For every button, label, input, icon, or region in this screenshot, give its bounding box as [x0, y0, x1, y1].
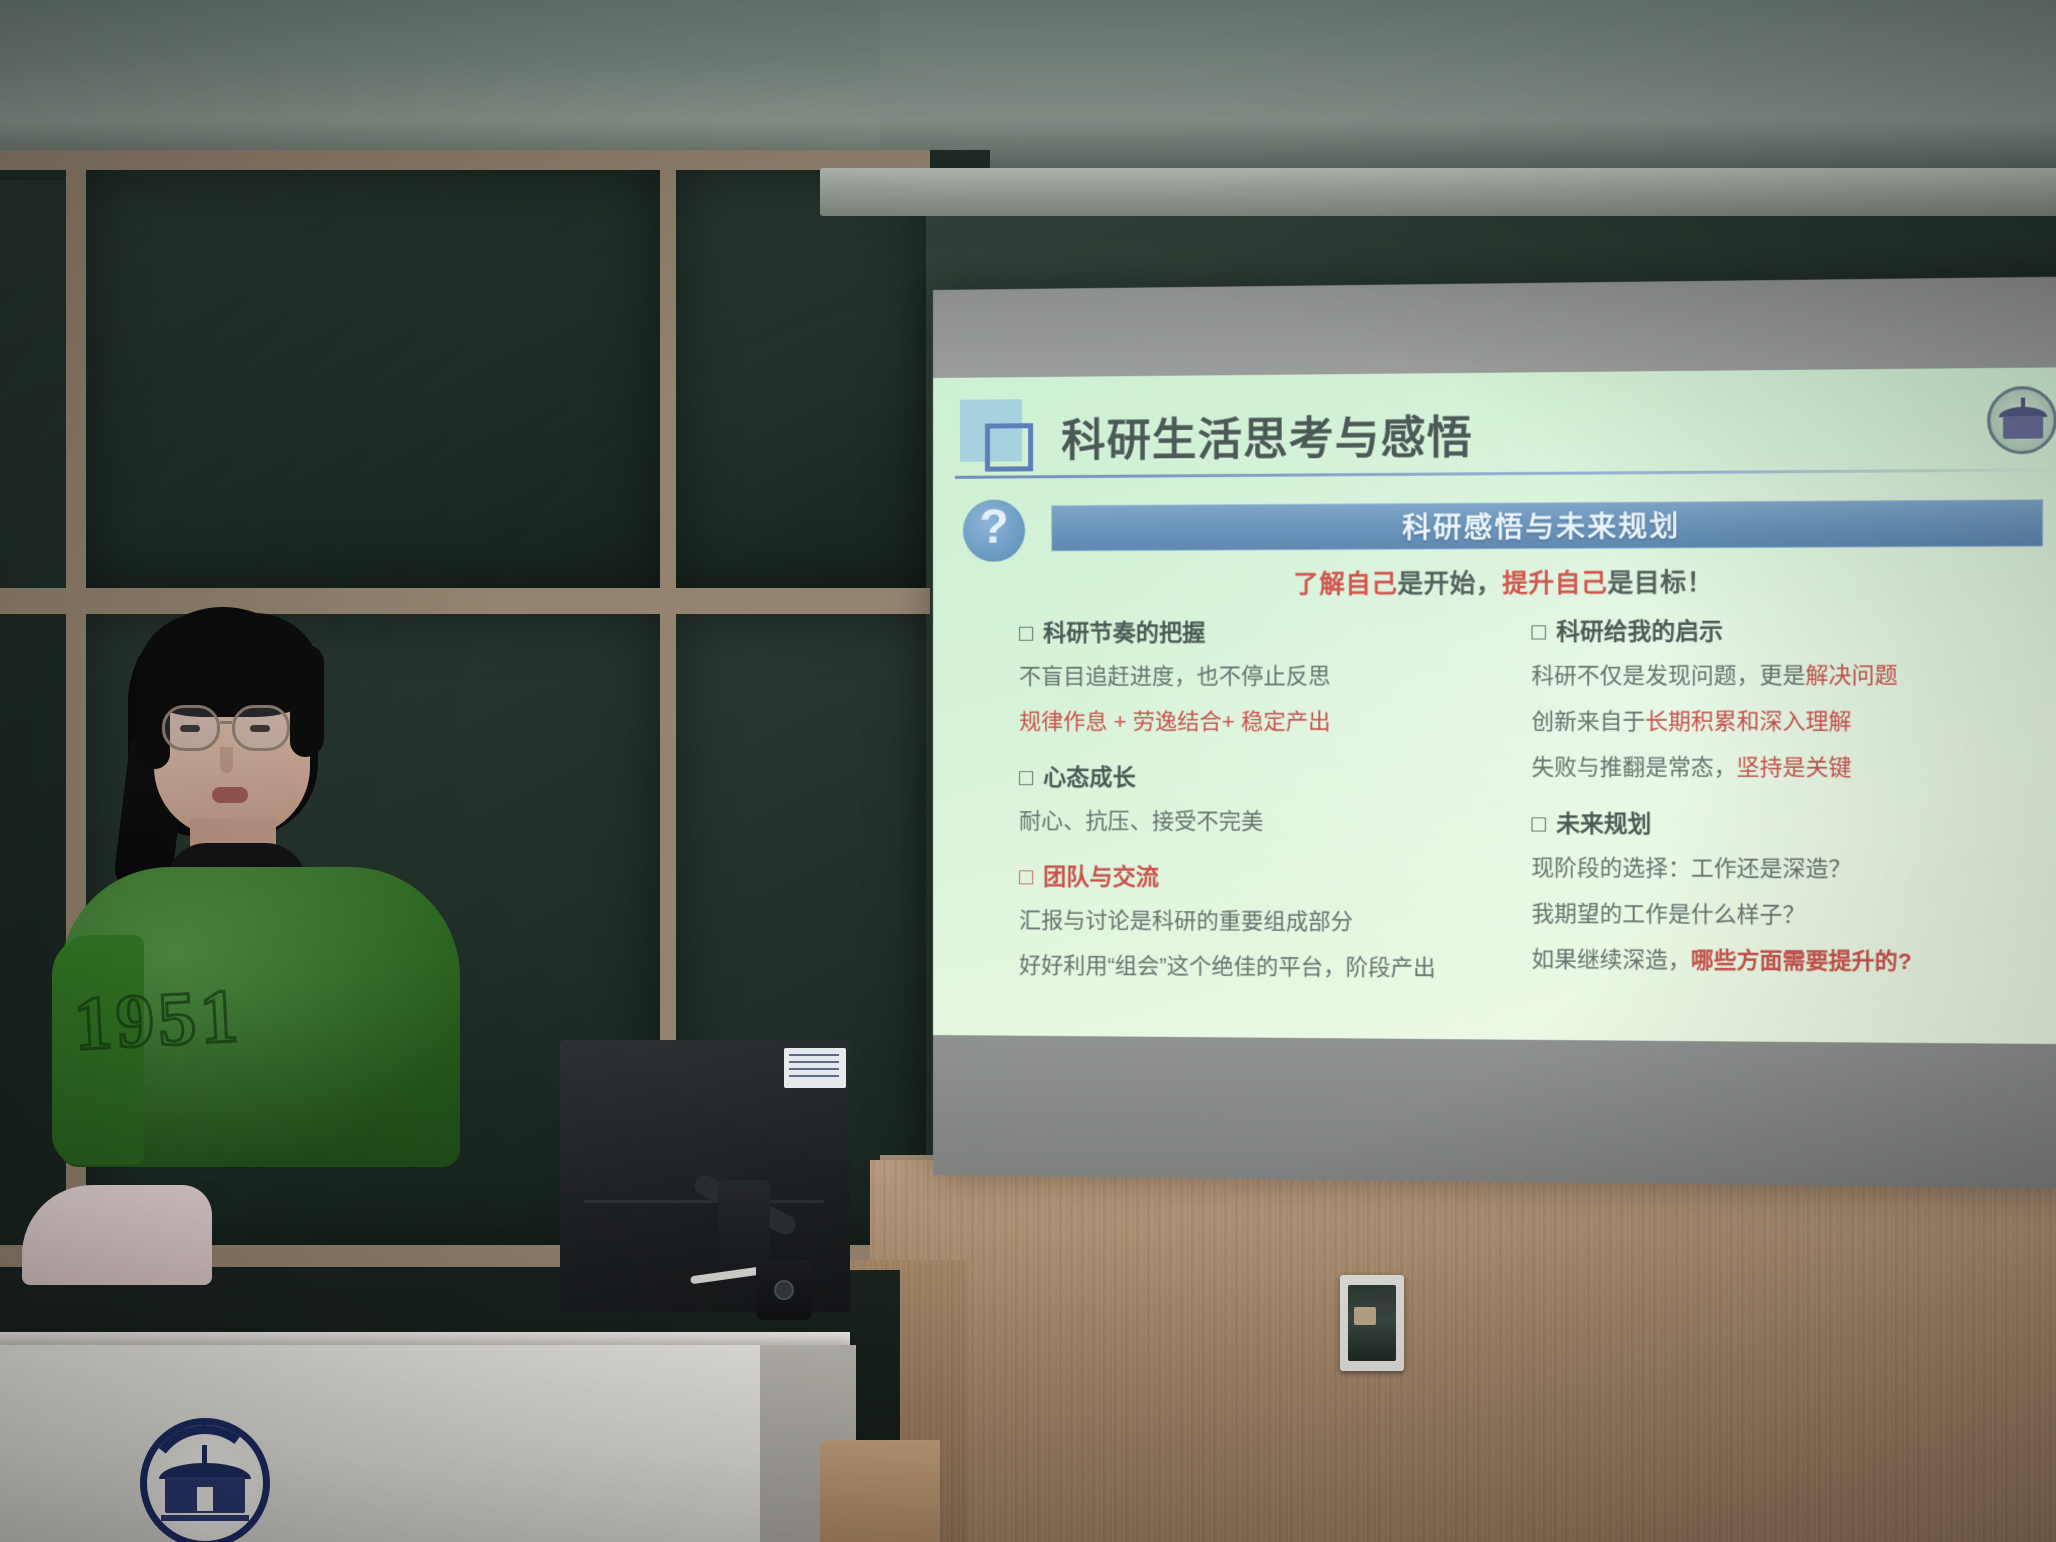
bullet-heading-text: 科研给我的启示 — [1556, 618, 1723, 645]
body-line: 科研不仅是发现问题，更是解决问题 — [1531, 657, 2056, 691]
body-line: 我期望的工作是什么样子？ — [1531, 896, 2056, 931]
bullet-heading-research-insights: □科研给我的启示 — [1531, 610, 2056, 646]
body-line: 不盲目追赶进度，也不停止反思 — [1019, 658, 1527, 691]
hair-side-left — [136, 649, 170, 769]
body-line: 耐心、抗压、接受不完美 — [1019, 803, 1527, 836]
slide-content-columns: □科研节奏的把握 不盲目追赶进度，也不停止反思 规律作息 + 劳逸结合+ 稳定产… — [933, 610, 2056, 1022]
projection-screen: 科研生活思考与感悟 ? 科研感悟与未来规划 了解自己是开始，提升自己是目标！ □… — [933, 276, 2056, 1188]
webcam — [756, 1260, 812, 1320]
presentation-slide: 科研生活思考与感悟 ? 科研感悟与未来规划 了解自己是开始，提升自己是目标！ □… — [933, 367, 2056, 1044]
body-line: 好好利用“组会”这个绝佳的平台，阶段产出 — [1019, 947, 1527, 982]
slide-column-right: □科研给我的启示 科研不仅是发现问题，更是解决问题 创新来自于长期积累和深入理解… — [1531, 610, 2056, 990]
glasses-lens-left — [162, 705, 220, 751]
nose — [220, 747, 233, 773]
bullet-heading-team-communication: □团队与交流 — [1019, 857, 1527, 893]
board-panel-upper-right — [676, 170, 926, 588]
webcam-lens-icon — [774, 1280, 794, 1300]
body-line: 如果继续深造，哪些方面需要提升的? — [1531, 941, 2056, 977]
body-line-highlight: 长期积累和深入理解 — [1645, 708, 1851, 734]
bullet-heading-text: 未来规划 — [1556, 810, 1651, 837]
board-panel-upper-left — [86, 170, 660, 588]
body-line-highlight: 坚持是关键 — [1737, 754, 1852, 780]
slide-subtitle: 了解自己是开始，提升自己是目标！ — [933, 561, 2056, 602]
body-line: 创新来自于长期积累和深入理解 — [1531, 703, 2056, 736]
subtitle-part-1: 了解自己 — [1293, 570, 1397, 599]
bullet-heading-research-rhythm: □科研节奏的把握 — [1019, 612, 1527, 648]
body-line: 现阶段的选择：工作还是深造？ — [1531, 850, 2056, 885]
sweater-graphic-text: 1951 — [72, 973, 244, 1069]
body-line-prefix: 如果继续深造， — [1531, 946, 1690, 972]
spacer — [1019, 749, 1527, 758]
mouth — [212, 787, 248, 803]
monitor-asset-label-lines — [789, 1054, 839, 1082]
bullet-square-icon: □ — [1019, 863, 1033, 889]
board-frame-top — [0, 150, 930, 170]
question-mark-icon: ? — [963, 499, 1025, 561]
bullet-heading-mindset-growth: □心态成长 — [1019, 758, 1527, 793]
presenter: 1951 — [40, 605, 520, 1165]
section-banner-text: 科研感悟与未来规划 — [1402, 505, 1680, 547]
bullet-heading-future-plan: □未来规划 — [1531, 804, 2056, 840]
lectern-wood-base — [820, 1440, 940, 1542]
slide-title-underline — [955, 468, 2056, 479]
body-line-prefix: 现阶段的选择：工作还是深造？ — [1531, 855, 1851, 882]
body-line-prefix: 失败与推翻是常态， — [1531, 754, 1736, 780]
hair-side-right — [290, 645, 324, 757]
crest-door — [197, 1487, 213, 1511]
wood-panel-wall — [870, 1160, 2056, 1542]
subtitle-part-4: 是目标！ — [1607, 569, 1713, 598]
glasses-bridge — [220, 721, 232, 724]
crest-base — [161, 1515, 249, 1521]
body-line: 汇报与讨论是科研的重要组成部分 — [1019, 902, 1527, 937]
bullet-square-icon: □ — [1019, 764, 1033, 790]
bullet-square-icon: □ — [1019, 620, 1033, 646]
wall-data-port[interactable] — [1340, 1275, 1404, 1371]
subtitle-part-2: 是开始， — [1397, 570, 1502, 599]
wuhan-university-emblem-icon — [1987, 386, 2056, 454]
subtitle-part-3: 提升自己 — [1502, 569, 1607, 598]
emblem-gate — [2003, 416, 2043, 439]
lecture-room-photo: 科研生活思考与感悟 ? 科研感悟与未来规划 了解自己是开始，提升自己是目标！ □… — [0, 0, 2056, 1542]
screen-band-top — [933, 276, 2056, 378]
wall-data-port-socket — [1354, 1307, 1376, 1325]
body-line-highlight: 解决问题 — [1805, 662, 1897, 688]
bullet-square-icon: □ — [1531, 810, 1545, 836]
slide-column-left: □科研节奏的把握 不盲目追赶进度，也不停止反思 规律作息 + 劳逸结合+ 稳定产… — [1019, 612, 1527, 996]
wuhan-university-crest-icon — [140, 1418, 270, 1542]
bullet-heading-text: 科研节奏的把握 — [1043, 619, 1205, 646]
body-line-prefix: 创新来自于 — [1531, 709, 1645, 734]
screen-mount-rail — [820, 168, 2056, 216]
screen-band-bottom — [933, 1035, 2056, 1189]
body-line: 失败与推翻是常态，坚持是关键 — [1531, 749, 2056, 782]
crest-spire — [202, 1445, 207, 1465]
bullet-heading-text: 团队与交流 — [1043, 863, 1159, 890]
monitor-asset-label — [784, 1048, 846, 1088]
monitor-seam — [584, 1200, 824, 1203]
slide-title: 科研生活思考与感悟 — [1061, 401, 1473, 469]
body-line-prefix: 我期望的工作是什么样子？ — [1531, 901, 1805, 928]
chair-backrest — [22, 1185, 212, 1285]
glasses-lens-right — [232, 705, 290, 751]
body-line-highlight: 哪些方面需要提升的? — [1691, 947, 1912, 974]
lectern — [0, 1345, 850, 1542]
decorative-square-outline — [985, 423, 1033, 471]
bullet-heading-text: 心态成长 — [1043, 764, 1136, 790]
body-line-prefix: 科研不仅是发现问题，更是 — [1531, 662, 1805, 688]
body-line: 规律作息 + 劳逸结合+ 稳定产出 — [1019, 704, 1527, 737]
bullet-square-icon: □ — [1531, 618, 1545, 644]
section-banner: 科研感悟与未来规划 — [1051, 499, 2043, 551]
